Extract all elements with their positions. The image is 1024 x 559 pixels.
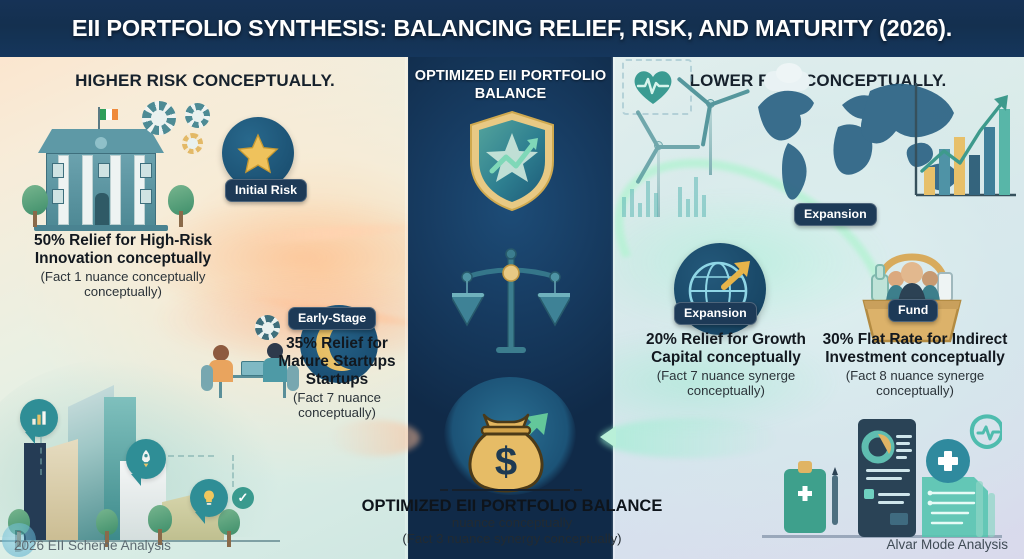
panel-center-heading: OPTIMIZED EII PORTFOLIO BALANCE — [408, 68, 613, 103]
panel-divider-right — [611, 57, 615, 559]
infographic-canvas: EII PORTFOLIO SYNTHESIS: BALANCING RELIE… — [0, 0, 1024, 559]
svg-text:$: $ — [495, 440, 517, 484]
block-relief-growth-capital: 20% Relief for Growth Capital conceptual… — [628, 331, 824, 399]
wind-turbine-icon — [634, 127, 682, 211]
lightbulb-icon — [190, 479, 228, 517]
dashed-connector — [168, 455, 214, 457]
caption-divider — [452, 489, 570, 491]
block-sub: (Fact 7 nuance conceptually) — [268, 390, 406, 421]
badge-expansion-top[interactable]: Expansion — [794, 203, 877, 226]
caption-divider-dot-left — [440, 489, 448, 491]
growth-chart-icon — [910, 79, 1020, 209]
center-caption-title: OPTIMIZED EII PORTFOLIO BALANCE — [302, 497, 722, 515]
block-lead: 50% Relief for High-Risk Innovation conc… — [8, 232, 238, 268]
panel-center-optimized-balance: OPTIMIZED EII PORTFOLIO BALANCE — [408, 57, 613, 559]
badge-early-stage[interactable]: Early-Stage — [288, 307, 376, 330]
dashed-connector — [232, 455, 234, 487]
money-bag-halo — [444, 377, 576, 495]
badge-expansion-globe[interactable]: Expansion — [674, 302, 757, 325]
block-lead: 30% Flat Rate for Indirect Investment co… — [812, 331, 1018, 367]
panel-divider-left — [405, 57, 409, 559]
shield-star-growth-icon — [466, 109, 558, 213]
block-sub: (Fact 7 nuance synerge conceptually) — [628, 368, 824, 399]
block-lead: 35% Relief for Mature Startups Startups — [268, 335, 406, 389]
bank-icon — [38, 107, 172, 233]
block-sub: (Fact 1 nuance conceptually conceptually… — [8, 269, 238, 300]
world-map-icon — [742, 71, 962, 211]
footer-right-label: Alvar Mode Analysis — [886, 537, 1008, 552]
panel-right-heading: LOWER RISK CONCEPTUALLY. — [612, 71, 1024, 91]
check-icon: ✓ — [232, 487, 254, 509]
money-bag-growth-icon: $ — [456, 387, 568, 499]
badge-fund[interactable]: Fund — [888, 299, 938, 322]
center-caption: OPTIMIZED EII PORTFOLIO BALANCE nuance c… — [302, 497, 722, 546]
panel-right-lower-risk: LOWER RISK CONCEPTUALLY. — [612, 57, 1024, 559]
wind-turbine-icon — [680, 85, 740, 181]
footer-left-label: 2026 EII Scheme Analysis — [14, 538, 171, 553]
panel-left-higher-risk: HIGHER RISK CONCEPTUALLY. — [0, 57, 410, 559]
panel-left-heading: HIGHER RISK CONCEPTUALLY. — [0, 71, 410, 91]
block-relief-mature-startups: 35% Relief for Mature Startups Startups … — [268, 335, 406, 421]
gear-icon — [142, 101, 176, 135]
page-title: EII PORTFOLIO SYNTHESIS: BALANCING RELIE… — [72, 15, 952, 42]
block-relief-high-risk-innovation: 50% Relief for High-Risk Innovation conc… — [8, 232, 238, 300]
dashed-connector — [40, 437, 42, 475]
bar-sparkline-decor — [620, 167, 712, 217]
gear-icon — [185, 103, 210, 128]
bar-chart-icon — [20, 399, 58, 437]
caption-divider-dot-right — [574, 489, 582, 491]
glow-streak-orange — [232, 220, 410, 246]
center-caption-line2: nuance conceptually — [302, 515, 722, 531]
rocket-icon — [126, 439, 166, 479]
badge-initial-risk[interactable]: Initial Risk — [225, 179, 307, 202]
gear-icon — [182, 133, 203, 154]
balance-scales-icon — [452, 247, 570, 357]
center-caption-line3: (Fact 3 nuance synergy conceptually) — [302, 531, 722, 547]
block-sub: (Fact 8 nuance synerge conceptually) — [812, 368, 1018, 399]
block-lead: 20% Relief for Growth Capital conceptual… — [628, 331, 824, 367]
block-flat-rate-indirect-investment: 30% Flat Rate for Indirect Investment co… — [812, 331, 1018, 399]
title-bar: EII PORTFOLIO SYNTHESIS: BALANCING RELIE… — [0, 0, 1024, 57]
